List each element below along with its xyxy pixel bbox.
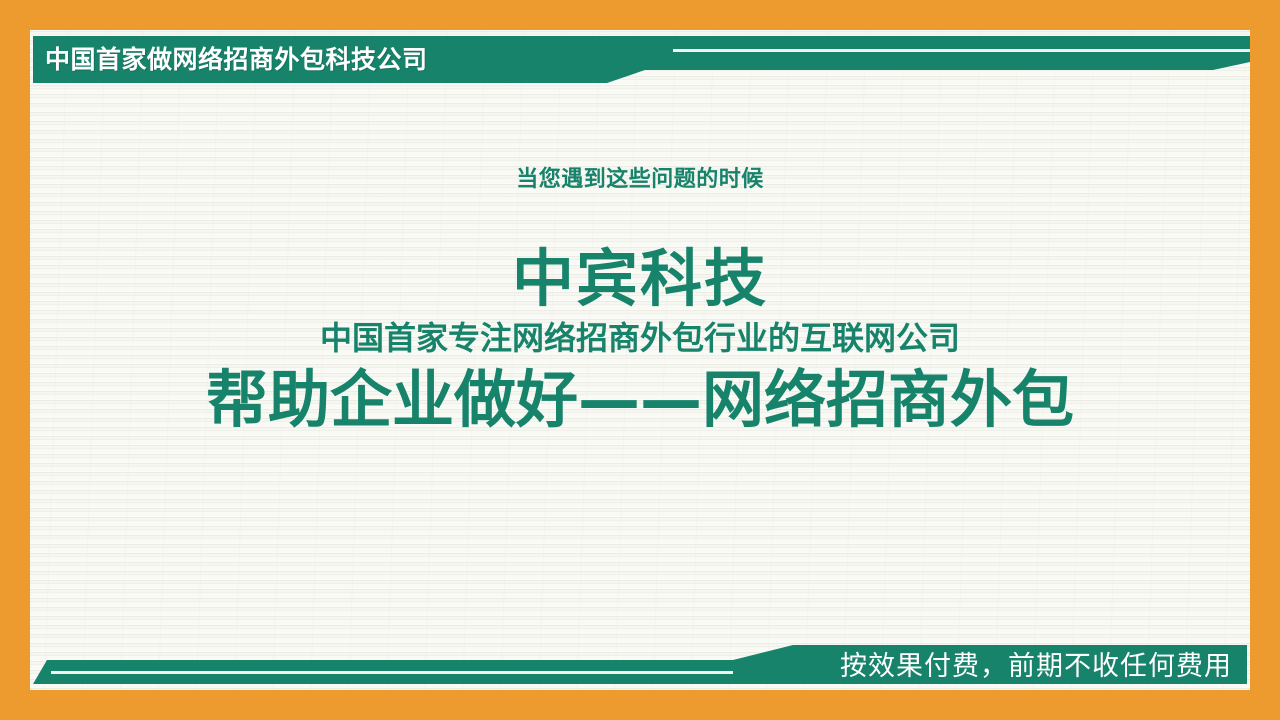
footer-note: 按效果付费，前期不收任何费用 xyxy=(840,650,1232,683)
slide-canvas xyxy=(30,30,1250,690)
slide-root: 中国首家做网络招商外包科技公司 当您遇到这些问题的时候 中宾科技 中国首家专注网… xyxy=(0,0,1280,720)
header-title: 中国首家做网络招商外包科技公司 xyxy=(45,44,428,75)
